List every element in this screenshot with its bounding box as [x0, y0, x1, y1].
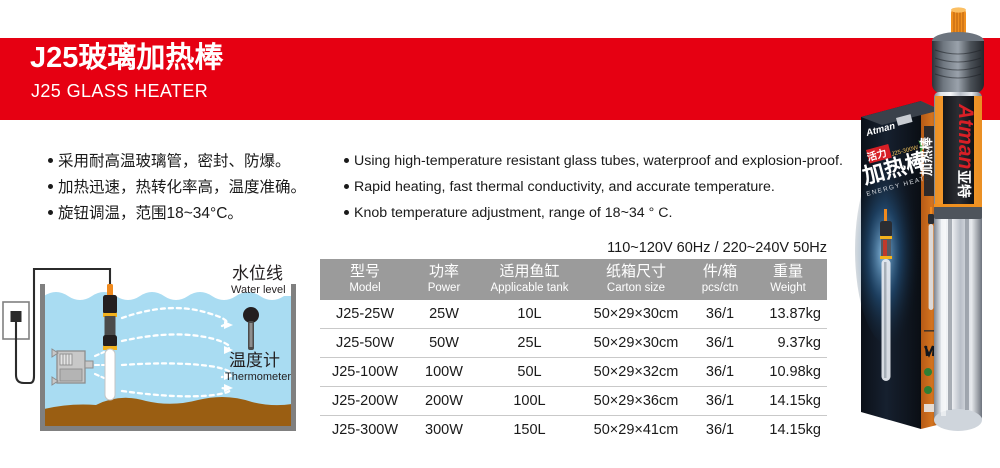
cell-pcs: 36/1 — [691, 358, 749, 387]
cell-model: J25-50W — [320, 329, 410, 358]
brand-name-cn: 亚特 — [956, 170, 972, 198]
feature-text: Knob temperature adjustment, range of 18… — [354, 202, 672, 224]
page-subtitle: J25 GLASS HEATER — [31, 82, 208, 100]
retail-box: Atman 活力 J25-300W 加热棒 ENERGY HEATER — [855, 101, 941, 429]
knob-top — [951, 7, 966, 12]
column-header-weight: 重量 Weight — [749, 259, 827, 300]
heater-product: Atman 亚特 — [932, 7, 984, 431]
box-recycle-icon — [924, 368, 932, 376]
cell-power: 100W — [410, 358, 478, 387]
column-header-power: 功率 Power — [410, 259, 478, 300]
aquarium-illustration: 水位线 Water level 温度计 Thermometer — [0, 255, 320, 455]
thermometer-label-en: Thermometer — [225, 371, 291, 383]
thermometer-label-cn: 温度计 — [229, 351, 280, 370]
cell-tank: 10L — [478, 300, 581, 329]
table-row: J25-200W 200W 100L 50×29×36cm 36/1 14.15… — [320, 387, 827, 416]
cell-model: J25-100W — [320, 358, 410, 387]
bullet-dot-icon — [48, 158, 53, 163]
cell-carton: 50×29×41cm — [581, 416, 691, 445]
table-row: J25-300W 300W 150L 50×29×41cm 36/1 14.15… — [320, 416, 827, 445]
cell-tank: 100L — [478, 387, 581, 416]
table-row: J25-50W 50W 25L 50×29×30cm 36/1 9.37kg — [320, 329, 827, 358]
cell-weight: 9.37kg — [749, 329, 827, 358]
table-header: 型号 Model 功率 Power 适用鱼缸 Applicable tank 纸… — [320, 259, 827, 300]
cell-tank: 25L — [478, 329, 581, 358]
table-header-row: 型号 Model 功率 Power 适用鱼缸 Applicable tank 纸… — [320, 259, 827, 300]
cell-carton: 50×29×36cm — [581, 387, 691, 416]
outlet-socket-icon — [11, 311, 22, 322]
bullet-dot-icon — [344, 184, 349, 189]
column-header-applicable-tank: 适用鱼缸 Applicable tank — [478, 259, 581, 300]
water-level-label-cn: 水位线 — [232, 264, 283, 283]
product-spec-sheet: J25玻璃加热棒 J25 GLASS HEATER 采用耐高温玻璃管，密封、防爆… — [0, 0, 1000, 468]
cell-weight: 13.87kg — [749, 300, 827, 329]
cell-weight: 10.98kg — [749, 358, 827, 387]
cell-tank: 50L — [478, 358, 581, 387]
feature-text: 加热迅速，热转化率高，温度准确。 — [58, 176, 306, 199]
column-header-carton-size: 纸箱尺寸 Carton size — [581, 259, 691, 300]
cell-model: J25-25W — [320, 300, 410, 329]
specification-table: 型号 Model 功率 Power 适用鱼缸 Applicable tank 纸… — [320, 259, 827, 444]
cell-power: 50W — [410, 329, 478, 358]
feature-item: 加热迅速，热转化率高，温度准确。 — [48, 176, 306, 199]
bullet-dot-icon — [344, 210, 349, 215]
cell-weight: 14.15kg — [749, 387, 827, 416]
label-strip-left — [935, 96, 944, 204]
feature-text: 采用耐高温玻璃管，密封、防爆。 — [58, 150, 291, 173]
tank-wall-right — [291, 284, 296, 431]
feature-item: 旋钮调温，范围18~34°C。 — [48, 202, 306, 225]
table-row: J25-25W 25W 10L 50×29×30cm 36/1 13.87kg — [320, 300, 827, 329]
feature-text: Rapid heating, fast thermal conductivity… — [354, 176, 775, 198]
cell-carton: 50×29×30cm — [581, 329, 691, 358]
cell-pcs: 36/1 — [691, 329, 749, 358]
tank-wall-left — [40, 284, 45, 431]
feature-item: Using high-temperature resistant glass t… — [344, 150, 843, 172]
column-header-pcs-per-carton: 件/箱 pcs/ctn — [691, 259, 749, 300]
box-eco-icon — [924, 386, 932, 394]
cell-weight: 14.15kg — [749, 416, 827, 445]
bullet-dot-icon — [48, 210, 53, 215]
cell-pcs: 36/1 — [691, 387, 749, 416]
cell-power: 200W — [410, 387, 478, 416]
table-body: J25-25W 25W 10L 50×29×30cm 36/1 13.87kg … — [320, 300, 827, 444]
cell-pcs: 36/1 — [691, 416, 749, 445]
voltage-note: 110~120V 60Hz / 220~240V 50Hz — [607, 240, 827, 256]
cell-carton: 50×29×30cm — [581, 300, 691, 329]
cell-model: J25-200W — [320, 387, 410, 416]
heater-rod-icon — [103, 284, 117, 400]
cell-power: 300W — [410, 416, 478, 445]
cell-tank: 150L — [478, 416, 581, 445]
tube-collar — [934, 206, 982, 219]
product-photo: Atman 活力 J25-300W 加热棒 ENERGY HEATER — [855, 0, 1000, 468]
box-side-title: 加热棒 — [919, 136, 934, 177]
box-product-image — [880, 209, 892, 381]
cell-power: 25W — [410, 300, 478, 329]
water-level-label-en: Water level — [231, 284, 286, 296]
bullet-dot-icon — [48, 184, 53, 189]
brand-name: Atman — [954, 103, 977, 169]
table-row: J25-100W 100W 50L 50×29×32cm 36/1 10.98k… — [320, 358, 827, 387]
box-side-product-image — [928, 207, 934, 310]
bullet-dot-icon — [344, 158, 349, 163]
feature-item: Knob temperature adjustment, range of 18… — [344, 202, 843, 224]
cell-model: J25-300W — [320, 416, 410, 445]
heater-cap — [932, 41, 984, 96]
feature-text: 旋钮调温，范围18~34°C。 — [58, 202, 243, 225]
header-banner: J25玻璃加热棒 J25 GLASS HEATER — [0, 38, 1000, 120]
features-list-chinese: 采用耐高温玻璃管，密封、防爆。 加热迅速，热转化率高，温度准确。 旋钮调温，范围… — [48, 150, 306, 228]
feature-text: Using high-temperature resistant glass t… — [354, 150, 843, 172]
heating-element-right — [965, 210, 969, 410]
feature-item: Rapid heating, fast thermal conductivity… — [344, 176, 843, 198]
cell-carton: 50×29×32cm — [581, 358, 691, 387]
page-title: J25玻璃加热棒 — [30, 44, 223, 73]
cell-pcs: 36/1 — [691, 300, 749, 329]
column-header-model: 型号 Model — [320, 259, 410, 300]
heating-element-left — [948, 210, 952, 410]
features-list-english: Using high-temperature resistant glass t… — [344, 150, 843, 228]
collar-accent — [934, 204, 982, 207]
tank-wall-bottom — [40, 426, 296, 431]
feature-item: 采用耐高温玻璃管，密封、防爆。 — [48, 150, 306, 173]
